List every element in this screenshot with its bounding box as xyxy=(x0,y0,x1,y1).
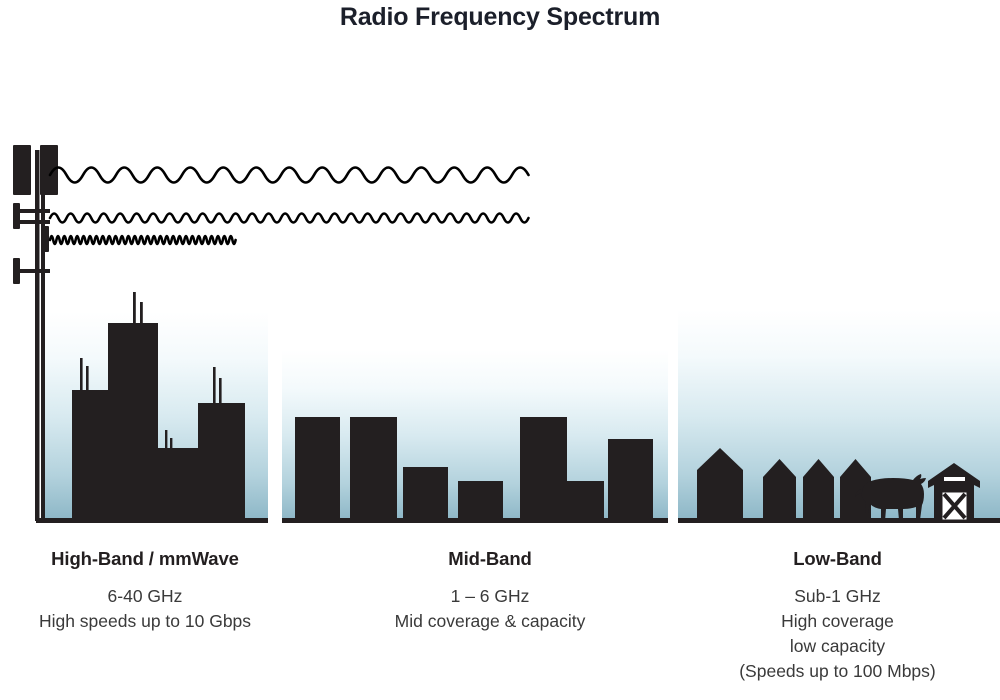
scene-svg xyxy=(0,0,1000,540)
band-details-mid-band: 1 – 6 GHz Mid coverage & capacity xyxy=(330,584,650,634)
band-heading-high-band: High-Band / mmWave xyxy=(0,548,290,570)
suburban-building xyxy=(458,481,503,521)
band-frequency-high-band: 6-40 GHz xyxy=(0,584,290,609)
radio-waves xyxy=(50,168,529,245)
caption-low-band: Low-Band Sub-1 GHz High coverage low cap… xyxy=(675,540,1000,684)
high-band-wave xyxy=(50,236,236,244)
skyscraper xyxy=(72,390,108,521)
tower-panel-antenna-left xyxy=(13,145,31,195)
band-frequency-low-band: Sub-1 GHz xyxy=(675,584,1000,609)
band-heading-low-band: Low-Band xyxy=(675,548,1000,570)
caption-mid-band: Mid-Band 1 – 6 GHz Mid coverage & capaci… xyxy=(330,540,650,634)
skyscraper-spire xyxy=(133,292,136,325)
band-speed-low-band: (Speeds up to 100 Mbps) xyxy=(675,659,1000,684)
spectrum-scene xyxy=(0,0,1000,540)
band-speed-mid-band: Mid coverage & capacity xyxy=(330,609,650,634)
band-frequency-mid-band: 1 – 6 GHz xyxy=(330,584,650,609)
band-heading-mid-band: Mid-Band xyxy=(330,548,650,570)
radio-frequency-spectrum-infographic: Radio Frequency Spectrum xyxy=(0,0,1000,700)
tower-antenna-tier4 xyxy=(13,258,20,284)
suburban-building xyxy=(567,481,604,521)
band-capacity-low-band: low capacity xyxy=(675,634,1000,659)
skyscraper-spire xyxy=(165,430,167,450)
caption-high-band: High-Band / mmWave 6-40 GHz High speeds … xyxy=(0,540,290,634)
band-coverage-low-band: High coverage xyxy=(675,609,1000,634)
mid-band-wave xyxy=(50,214,529,223)
suburban-building xyxy=(520,417,567,521)
low-band-wave xyxy=(50,168,529,183)
tower-crossarm-bottom xyxy=(20,269,50,273)
band-speed-high-band: High speeds up to 10 Gbps xyxy=(0,609,290,634)
tower-antenna-tier2 xyxy=(13,203,20,229)
tower-antenna-tier3 xyxy=(42,226,49,252)
skyscraper-spire xyxy=(86,366,89,392)
skyscraper-spire xyxy=(80,358,83,392)
suburban-building xyxy=(350,417,397,521)
band-captions: High-Band / mmWave 6-40 GHz High speeds … xyxy=(0,540,1000,700)
skyscraper-spire xyxy=(140,302,143,325)
skyscraper xyxy=(108,323,158,521)
band-details-high-band: 6-40 GHz High speeds up to 10 Gbps xyxy=(0,584,290,634)
suburban-building xyxy=(608,439,653,521)
tower-mast-left xyxy=(35,150,40,521)
band-details-low-band: Sub-1 GHz High coverage low capacity (Sp… xyxy=(675,584,1000,684)
skyscraper-spire xyxy=(219,378,222,405)
skyscraper xyxy=(158,448,198,521)
suburban-building xyxy=(295,417,340,521)
barn-loft-window xyxy=(944,477,965,481)
skyscraper xyxy=(198,403,245,521)
skyscraper-spire xyxy=(213,367,216,405)
tower-crossarm-lower xyxy=(20,220,50,224)
tower-crossarm-upper xyxy=(20,209,50,213)
suburban-building xyxy=(403,467,448,521)
